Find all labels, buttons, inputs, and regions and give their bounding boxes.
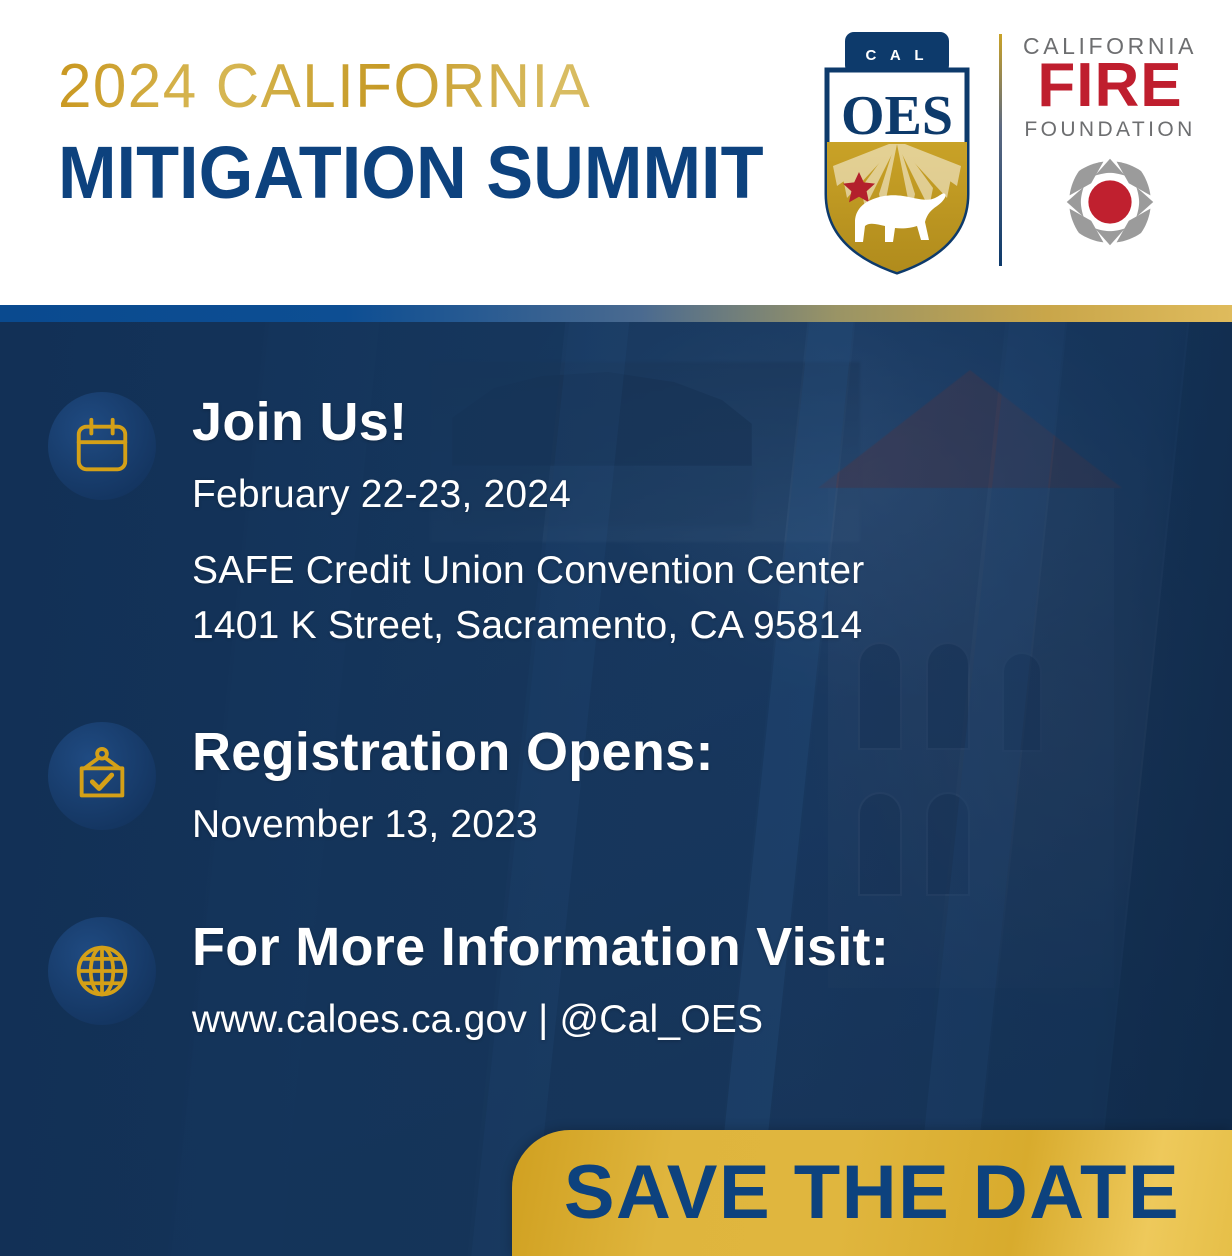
venue-name: SAFE Credit Union Convention Center (192, 543, 865, 598)
logo-group: C A L (817, 26, 1196, 276)
website-and-handle[interactable]: www.caloes.ca.gov | @Cal_OES (192, 992, 889, 1047)
registration-heading: Registration Opens: (192, 724, 714, 781)
globe-icon (48, 917, 156, 1025)
more-information-text: For More Information Visit: www.caloes.c… (192, 917, 889, 1048)
cff-foundation-label: FOUNDATION (1024, 118, 1195, 141)
california-fire-foundation-logo: CALIFORNIA FIRE FOUNDATION (1024, 26, 1196, 266)
venue-address: 1401 K Street, Sacramento, CA 95814 (192, 598, 865, 653)
venue-address-group: SAFE Credit Union Convention Center 1401… (192, 543, 865, 654)
page-title-year: 2024 CALIFORNIA (58, 56, 776, 118)
event-date: February 22-23, 2024 (192, 467, 865, 522)
cal-oes-shield-logo: C A L (817, 26, 977, 276)
gradient-accent-strip (0, 305, 1232, 322)
title-block: 2024 CALIFORNIA MITIGATION SUMMIT (58, 56, 798, 210)
content-area: Join Us! February 22-23, 2024 SAFE Credi… (0, 322, 1232, 1256)
more-information-heading: For More Information Visit: (192, 919, 889, 976)
header: 2024 CALIFORNIA MITIGATION SUMMIT (0, 0, 1232, 305)
join-us-text: Join Us! February 22-23, 2024 SAFE Credi… (192, 392, 865, 653)
section-join-us: Join Us! February 22-23, 2024 SAFE Credi… (48, 392, 865, 653)
registration-text: Registration Opens: November 13, 2023 (192, 722, 714, 853)
calendar-icon (48, 392, 156, 500)
save-the-date-banner: SAVE THE DATE (512, 1130, 1232, 1256)
logo-divider (999, 34, 1002, 266)
cff-fire-label: FIRE (1037, 57, 1182, 116)
page-title-main: MITIGATION SUMMIT (58, 136, 761, 210)
save-the-date-flyer: 2024 CALIFORNIA MITIGATION SUMMIT (0, 0, 1232, 1256)
join-us-heading: Join Us! (192, 394, 865, 451)
registration-date: November 13, 2023 (192, 797, 714, 852)
save-the-date-label: SAVE THE DATE (564, 1155, 1180, 1231)
section-more-information: For More Information Visit: www.caloes.c… (48, 917, 889, 1048)
maltese-cross-icon (1063, 155, 1157, 254)
cal-oes-shield-icon: C A L (817, 26, 977, 276)
svg-text:C A L: C A L (865, 47, 928, 64)
registration-sign-check-icon (48, 722, 156, 830)
section-registration: Registration Opens: November 13, 2023 (48, 722, 714, 853)
svg-text:OES: OES (841, 85, 953, 147)
